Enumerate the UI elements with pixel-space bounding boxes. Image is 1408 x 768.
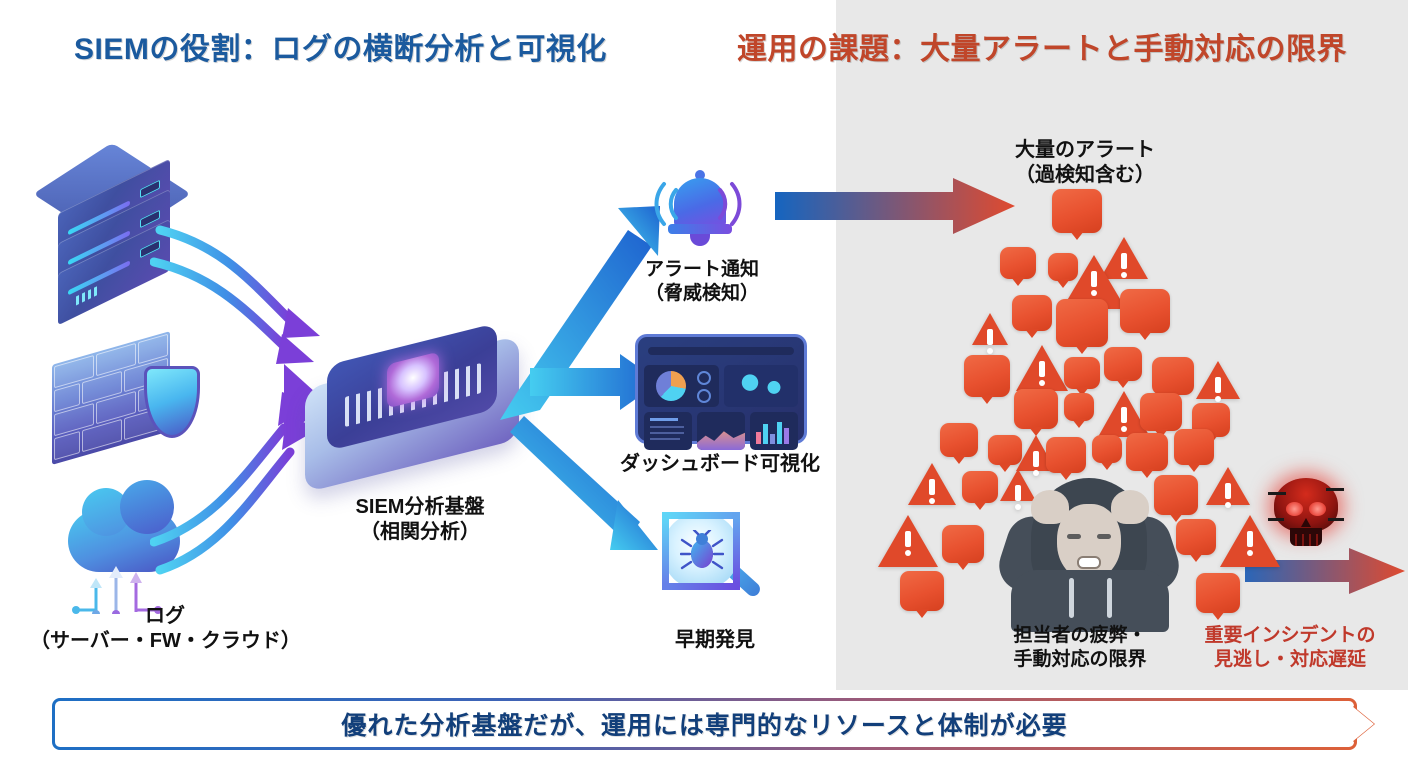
alert-notification-label: アラート通知 （脅威検知） — [622, 258, 782, 306]
operator-fatigue-label: 担当者の疲弊・ 手動対応の限界 — [975, 624, 1185, 672]
left-section-title: SIEMの役割：ログの横断分析と可視化 — [74, 24, 607, 68]
infographic-canvas: SIEMの役割：ログの横断分析と可視化 運用の課題：大量アラートと手動対応の限界 — [0, 0, 1408, 768]
dashboard-label: ダッシュボード可視化 — [605, 452, 835, 477]
bell-sound-waves-icon — [648, 172, 748, 242]
skull-threat-icon — [1268, 478, 1344, 550]
summary-banner-arrow-tip — [1352, 706, 1374, 742]
dashboard-label-line1: ダッシュボード可視化 — [605, 452, 835, 477]
mass-alerts-label-line1: 大量のアラート — [940, 138, 1230, 163]
log-sources-label-line2: （サーバー・FW・クラウド） — [30, 629, 300, 654]
magnifier-bug-icon — [662, 512, 766, 616]
mass-alerts-label: 大量のアラート （過検知含む） — [940, 138, 1230, 188]
alert-bell-icon — [660, 166, 740, 252]
incident-miss-label-line1: 重要インシデントの — [1180, 624, 1400, 648]
operator-fatigue-label-line2: 手動対応の限界 — [975, 648, 1185, 672]
early-detection-label: 早期発見 — [640, 628, 790, 653]
bug-icon — [680, 530, 724, 572]
log-sources-label: ログ （サーバー・FW・クラウド） — [30, 604, 300, 654]
alert-notification-label-line1: アラート通知 — [622, 258, 782, 282]
right-section-title: 運用の課題：大量アラートと手動対応の限界 — [737, 24, 1347, 68]
summary-banner: 優れた分析基盤だが、運用には専門的なリソースと体制が必要 — [52, 698, 1357, 750]
operator-fatigue-label-line1: 担当者の疲弊・ — [975, 624, 1185, 648]
summary-banner-text: 優れた分析基盤だが、運用には専門的なリソースと体制が必要 — [341, 706, 1067, 742]
stressed-operator-icon — [995, 470, 1185, 630]
alert-notification-label-line2: （脅威検知） — [622, 282, 782, 306]
incident-miss-label-line2: 見逃し・対応遅延 — [1180, 648, 1400, 672]
incident-miss-label: 重要インシデントの 見逃し・対応遅延 — [1180, 624, 1400, 672]
dashboard-icon — [635, 334, 807, 444]
early-detection-label-line1: 早期発見 — [640, 628, 790, 653]
